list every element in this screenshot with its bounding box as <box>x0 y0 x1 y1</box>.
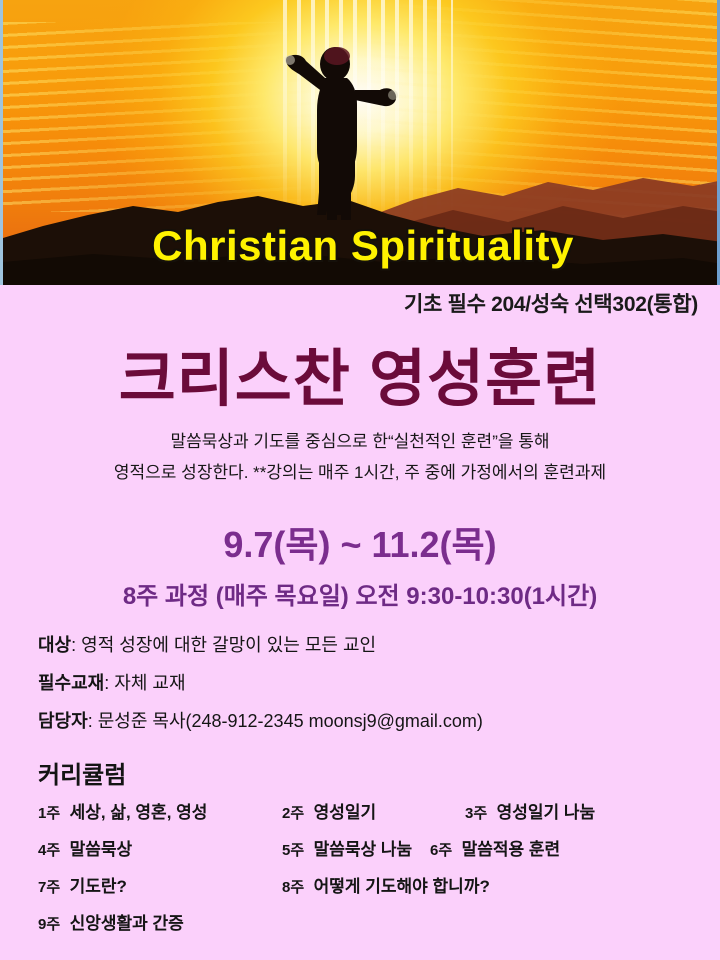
curriculum-row: 9주 신앙생활과 간증 <box>38 909 708 946</box>
curriculum-topic: 기도란? <box>70 877 127 896</box>
description: 말씀묵상과 기도를 중심으로 한“실천적인 훈련”을 통해 영적으로 성장한다.… <box>0 426 720 488</box>
curriculum-week: 3주 <box>465 805 487 822</box>
curriculum-item: 8주 어떻게 기도해야 합니까? <box>282 872 490 897</box>
person-silhouette-icon <box>286 47 396 220</box>
curriculum-item: 5주 말씀묵상 나눔 <box>282 835 412 860</box>
hero-banner: Christian Spirituality <box>0 0 720 285</box>
curriculum-week: 4주 <box>38 842 60 859</box>
contact-value: 문성준 목사(248-912-2345 moonsj9@gmail.com) <box>98 711 483 731</box>
date-range: 9.7(목) ~ 11.2(목) <box>0 516 720 568</box>
detail-value: 자체 교재 <box>114 673 185 693</box>
detail-row: 담당자: 문성준 목사(248-912-2345 moonsj9@gmail.c… <box>38 702 698 740</box>
curriculum-row: 1주 세상, 삶, 영혼, 영성 2주 영성일기 3주 영성일기 나눔 <box>38 798 708 835</box>
curriculum-week: 2주 <box>282 805 304 822</box>
curriculum-topic: 어떻게 기도해야 합니까? <box>314 877 490 896</box>
curriculum-row: 7주 기도란? 8주 어떻게 기도해야 합니까? <box>38 872 708 909</box>
curriculum-week: 8주 <box>282 879 304 896</box>
poster-root: Christian Spirituality 기초 필수 204/성숙 선택30… <box>0 0 720 960</box>
curriculum-week: 7주 <box>38 879 60 896</box>
detail-separator: : <box>88 711 98 731</box>
curriculum-week: 5주 <box>282 842 304 859</box>
curriculum-topic: 세상, 삶, 영혼, 영성 <box>70 803 208 822</box>
detail-row: 대상: 영적 성장에 대한 갈망이 있는 모든 교인 <box>38 626 698 664</box>
curriculum-list: 1주 세상, 삶, 영혼, 영성 2주 영성일기 3주 영성일기 나눔 4주 말… <box>38 798 708 946</box>
detail-separator: : <box>71 635 81 655</box>
curriculum-item: 7주 기도란? <box>38 872 127 897</box>
page-title: 크리스찬 영성훈련 <box>0 328 720 418</box>
detail-label: 담당자 <box>38 711 88 731</box>
description-line-2: 영적으로 성장한다. **강의는 매주 1시간, 주 중에 가정에서의 훈련과제 <box>0 457 720 488</box>
detail-separator: : <box>104 673 114 693</box>
banner-title: Christian Spirituality <box>3 222 720 270</box>
curriculum-item: 6주 말씀적용 훈련 <box>430 835 560 860</box>
curriculum-row: 4주 말씀묵상 5주 말씀묵상 나눔 6주 말씀적용 훈련 <box>38 835 708 872</box>
curriculum-item: 9주 신앙생활과 간증 <box>38 909 184 934</box>
curriculum-item: 1주 세상, 삶, 영혼, 영성 <box>38 798 207 823</box>
curriculum-week: 9주 <box>38 916 60 933</box>
curriculum-topic: 말씀묵상 나눔 <box>314 840 413 859</box>
curriculum-topic: 말씀적용 훈련 <box>462 840 561 859</box>
detail-value: 영적 성장에 대한 갈망이 있는 모든 교인 <box>81 635 376 655</box>
detail-list: 대상: 영적 성장에 대한 갈망이 있는 모든 교인 필수교재: 자체 교재 담… <box>38 626 698 740</box>
curriculum-item: 4주 말씀묵상 <box>38 835 132 860</box>
course-code: 기초 필수 204/성숙 선택302(통합) <box>404 288 698 318</box>
curriculum-item: 2주 영성일기 <box>282 798 376 823</box>
curriculum-heading: 커리큘럼 <box>38 755 126 790</box>
detail-row: 필수교재: 자체 교재 <box>38 664 698 702</box>
schedule-line: 8주 과정 (매주 목요일) 오전 9:30-10:30(1시간) <box>0 576 720 611</box>
curriculum-topic: 말씀묵상 <box>70 840 133 859</box>
curriculum-topic: 영성일기 <box>314 803 377 822</box>
curriculum-week: 6주 <box>430 842 452 859</box>
curriculum-week: 1주 <box>38 805 60 822</box>
detail-label: 필수교재 <box>38 673 104 693</box>
curriculum-item: 3주 영성일기 나눔 <box>465 798 595 823</box>
curriculum-topic: 신앙생활과 간증 <box>70 914 184 933</box>
detail-label: 대상 <box>38 635 71 655</box>
description-line-1: 말씀묵상과 기도를 중심으로 한“실천적인 훈련”을 통해 <box>0 426 720 457</box>
curriculum-topic: 영성일기 나눔 <box>497 803 596 822</box>
